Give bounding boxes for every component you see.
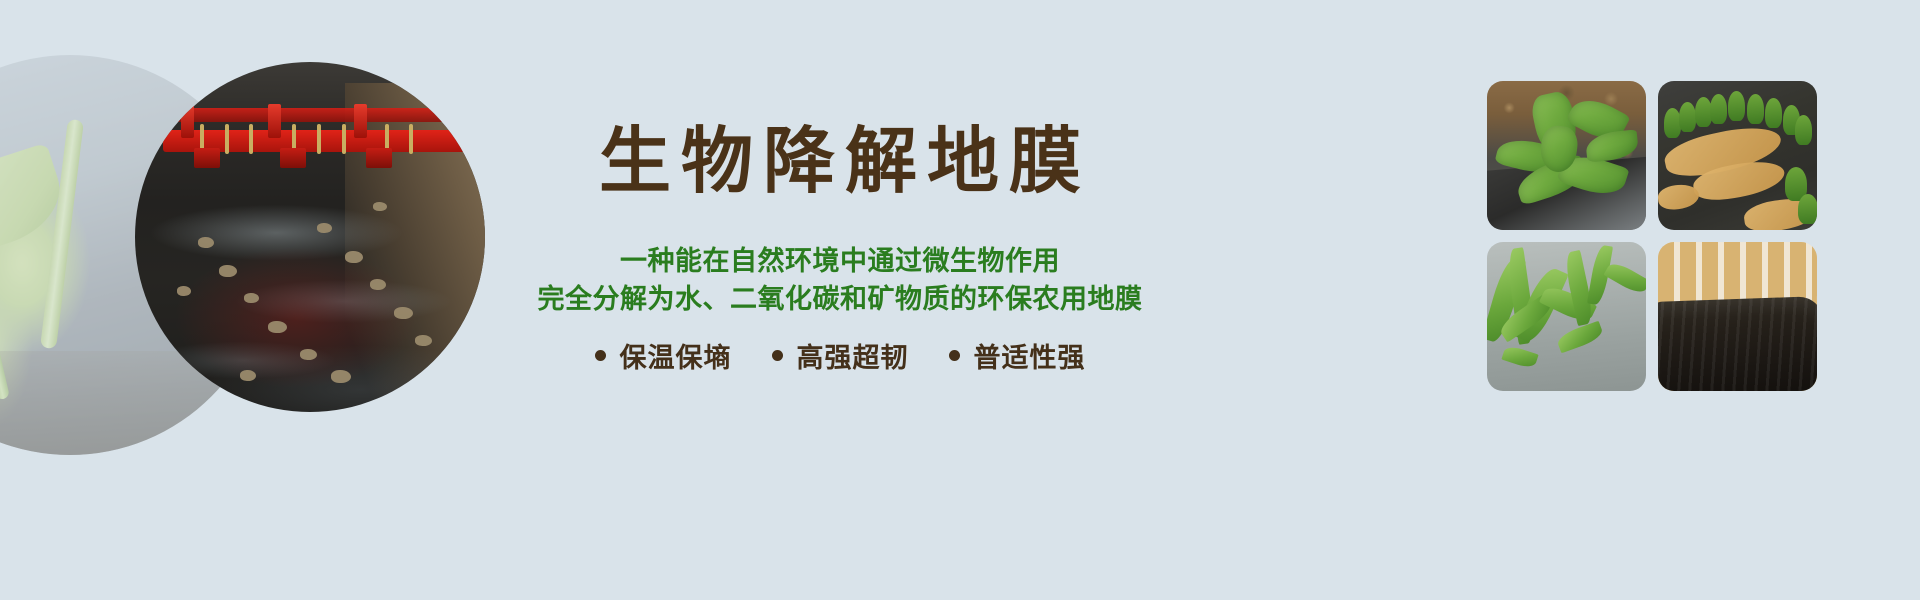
product-hero-banner: 生物降解地膜 一种能在自然环境中通过微生物作用 完全分解为水、二氧化碳和矿物质的… bbox=[0, 0, 1920, 600]
feature-item-2: 高强超韧 bbox=[772, 336, 909, 375]
black-mulch-film-roll-on-wooden-rack bbox=[1658, 242, 1817, 391]
hero-text-block: 生物降解地膜 一种能在自然环境中通过微生物作用 完全分解为水、二氧化碳和矿物质的… bbox=[420, 0, 1260, 600]
page-title: 生物降解地膜 bbox=[420, 126, 1260, 198]
feature-label: 普适性强 bbox=[974, 336, 1086, 375]
feature-label: 保温保墒 bbox=[620, 336, 732, 375]
feature-item-3: 普适性强 bbox=[949, 336, 1086, 375]
bullet-dot-icon bbox=[949, 350, 960, 361]
machine-post bbox=[354, 104, 367, 138]
hero-subtitle: 一种能在自然环境中通过微生物作用 完全分解为水、二氧化碳和矿物质的环保农用地膜 bbox=[420, 242, 1260, 318]
feature-list: 保温保墒 高强超韧 普适性强 bbox=[420, 336, 1260, 375]
crop-row bbox=[1661, 90, 1814, 150]
bullet-dot-icon bbox=[595, 350, 606, 361]
machine-post bbox=[268, 104, 281, 138]
bullet-dot-icon bbox=[772, 350, 783, 361]
machine-post bbox=[181, 104, 194, 138]
corn-seedlings-on-silver-mulch-film bbox=[1487, 242, 1646, 391]
subtitle-line-2: 完全分解为水、二氧化碳和矿物质的环保农用地膜 bbox=[420, 280, 1260, 318]
black-film-sheet bbox=[1658, 296, 1817, 391]
feature-label: 高强超韧 bbox=[797, 336, 909, 375]
feature-item-1: 保温保墒 bbox=[595, 336, 732, 375]
subtitle-line-1: 一种能在自然环境中通过微生物作用 bbox=[420, 242, 1260, 280]
tobacco-seedling-on-black-mulch-film bbox=[1487, 81, 1646, 230]
film-sheen bbox=[1658, 296, 1817, 391]
crop-rows-on-black-mulch-film-field bbox=[1658, 81, 1817, 230]
product-photo-grid bbox=[1487, 81, 1817, 407]
